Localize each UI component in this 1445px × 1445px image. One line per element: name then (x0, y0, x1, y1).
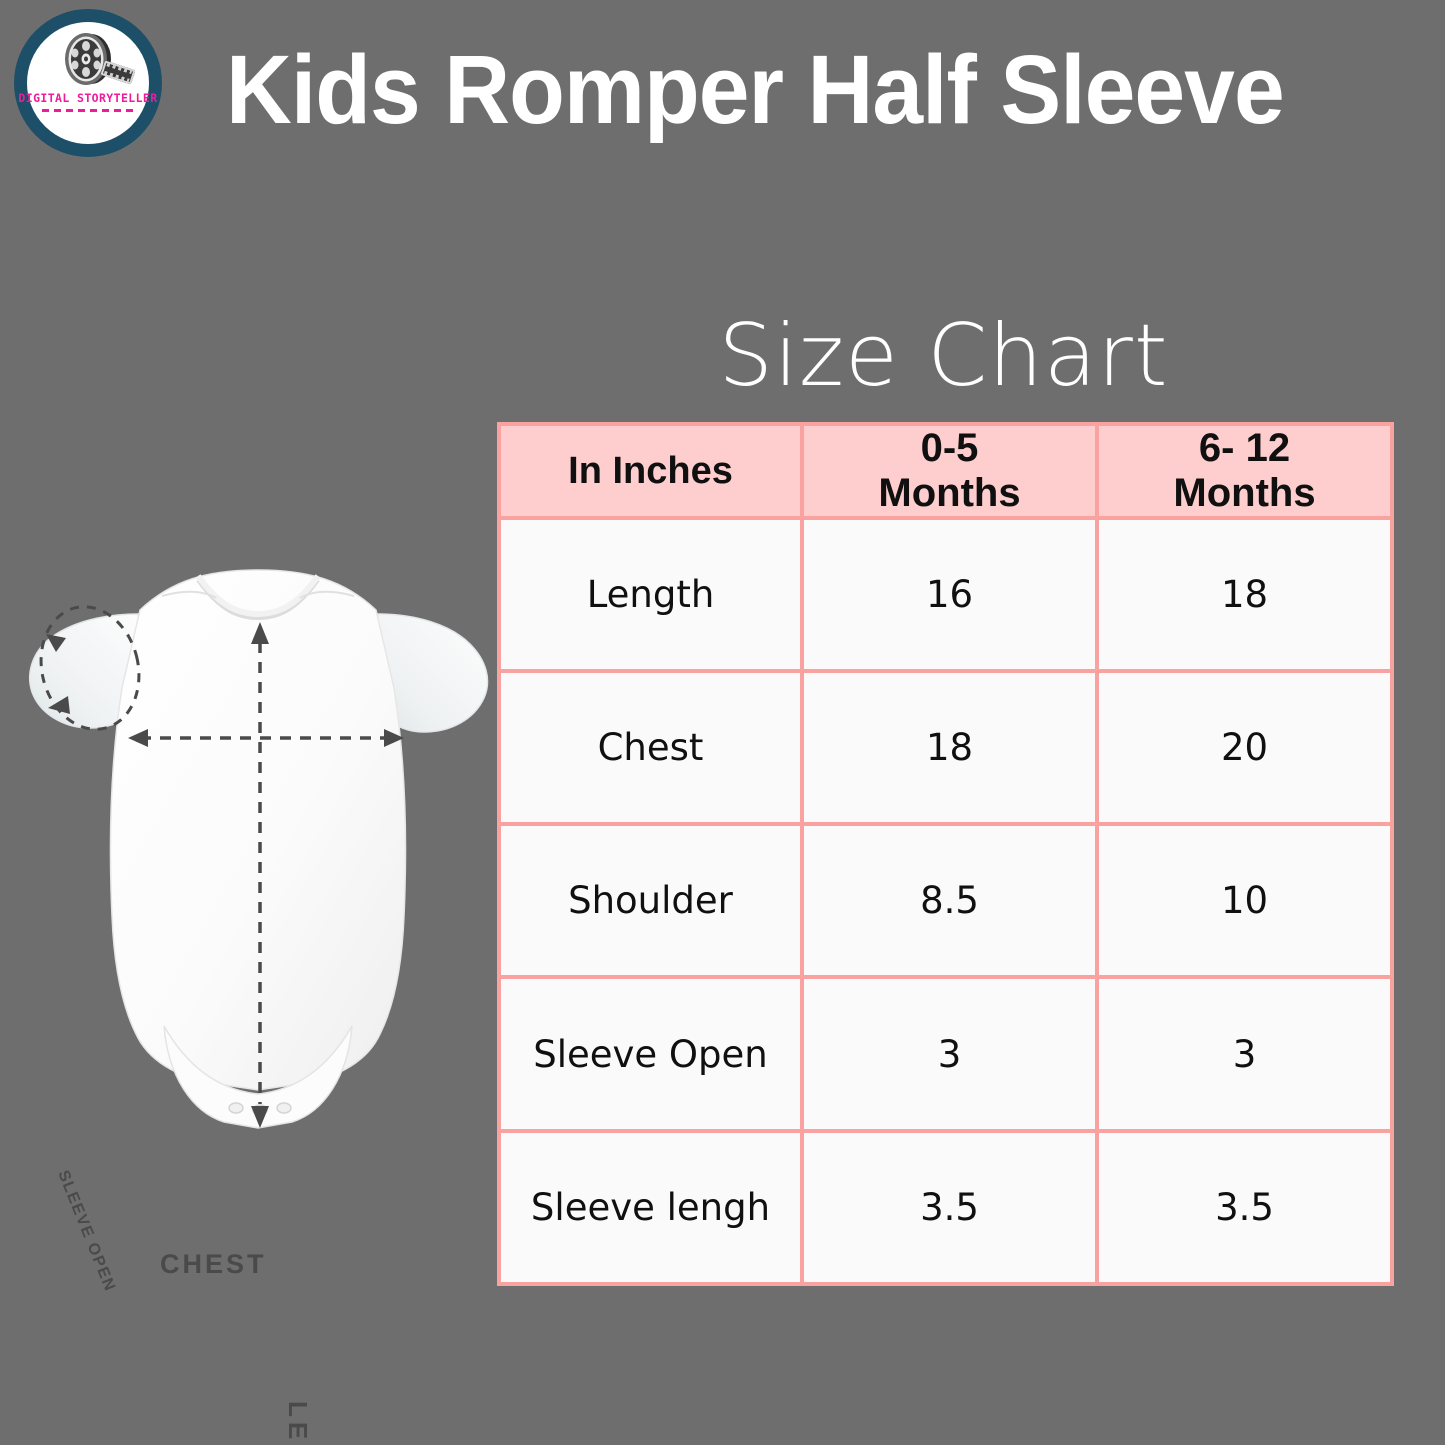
column-header-age-6-12: 6- 12 Months (1097, 424, 1392, 518)
column-header-age-0-5-line1: 0-5 (921, 426, 979, 470)
row-metric-label: Shoulder (499, 824, 802, 977)
row-value-age-0-5: 3.5 (802, 1131, 1097, 1284)
table-header-row: In Inches 0-5 Months 6- 12 Months (499, 424, 1392, 518)
size-chart-table: In Inches 0-5 Months 6- 12 Months Length… (497, 422, 1394, 1286)
row-metric-label: Sleeve lengh (499, 1131, 802, 1284)
column-header-age-6-12-line2: Months (1173, 471, 1315, 515)
page-title: Kids Romper Half Sleeve (226, 38, 1284, 143)
logo-text: DIGITAL STORYTELLER (14, 91, 162, 105)
romper-svg (12, 556, 504, 1152)
row-metric-label: Chest (499, 671, 802, 824)
row-value-age-0-5: 16 (802, 518, 1097, 671)
table-row: Length 16 18 (499, 518, 1392, 671)
row-value-age-0-5: 8.5 (802, 824, 1097, 977)
column-header-age-0-5-line2: Months (878, 471, 1020, 515)
row-value-age-6-12: 18 (1097, 518, 1392, 671)
size-chart-heading: Size Chart (497, 306, 1390, 406)
length-measure-label: LENGTH (282, 1401, 313, 1445)
chest-measure-label: CHEST (160, 1249, 267, 1280)
row-value-age-6-12: 3 (1097, 977, 1392, 1130)
table-row: Sleeve lengh 3.5 3.5 (499, 1131, 1392, 1284)
row-value-age-6-12: 20 (1097, 671, 1392, 824)
table-row: Shoulder 8.5 10 (499, 824, 1392, 977)
row-metric-label: Length (499, 518, 802, 671)
size-chart-page: DIGITAL STORYTELLER Kids Romper Half Sle… (0, 0, 1445, 1445)
brand-logo[interactable]: DIGITAL STORYTELLER (14, 9, 162, 157)
row-value-age-0-5: 3 (802, 977, 1097, 1130)
film-reel-icon (61, 31, 117, 87)
row-metric-label: Sleeve Open (499, 977, 802, 1130)
baby-romper-illustration: CHEST LENGTH SLEEVE OPEN (12, 556, 504, 1152)
sleeve-open-measure-label: SLEEVE OPEN (53, 1168, 118, 1295)
column-header-metric: In Inches (499, 424, 802, 518)
table-row: Sleeve Open 3 3 (499, 977, 1392, 1130)
row-value-age-6-12: 3.5 (1097, 1131, 1392, 1284)
column-header-age-0-5: 0-5 Months (802, 424, 1097, 518)
row-value-age-0-5: 18 (802, 671, 1097, 824)
column-header-age-6-12-line1: 6- 12 (1199, 426, 1290, 470)
row-value-age-6-12: 10 (1097, 824, 1392, 977)
table-row: Chest 18 20 (499, 671, 1392, 824)
logo-dashed-underline (42, 109, 134, 112)
